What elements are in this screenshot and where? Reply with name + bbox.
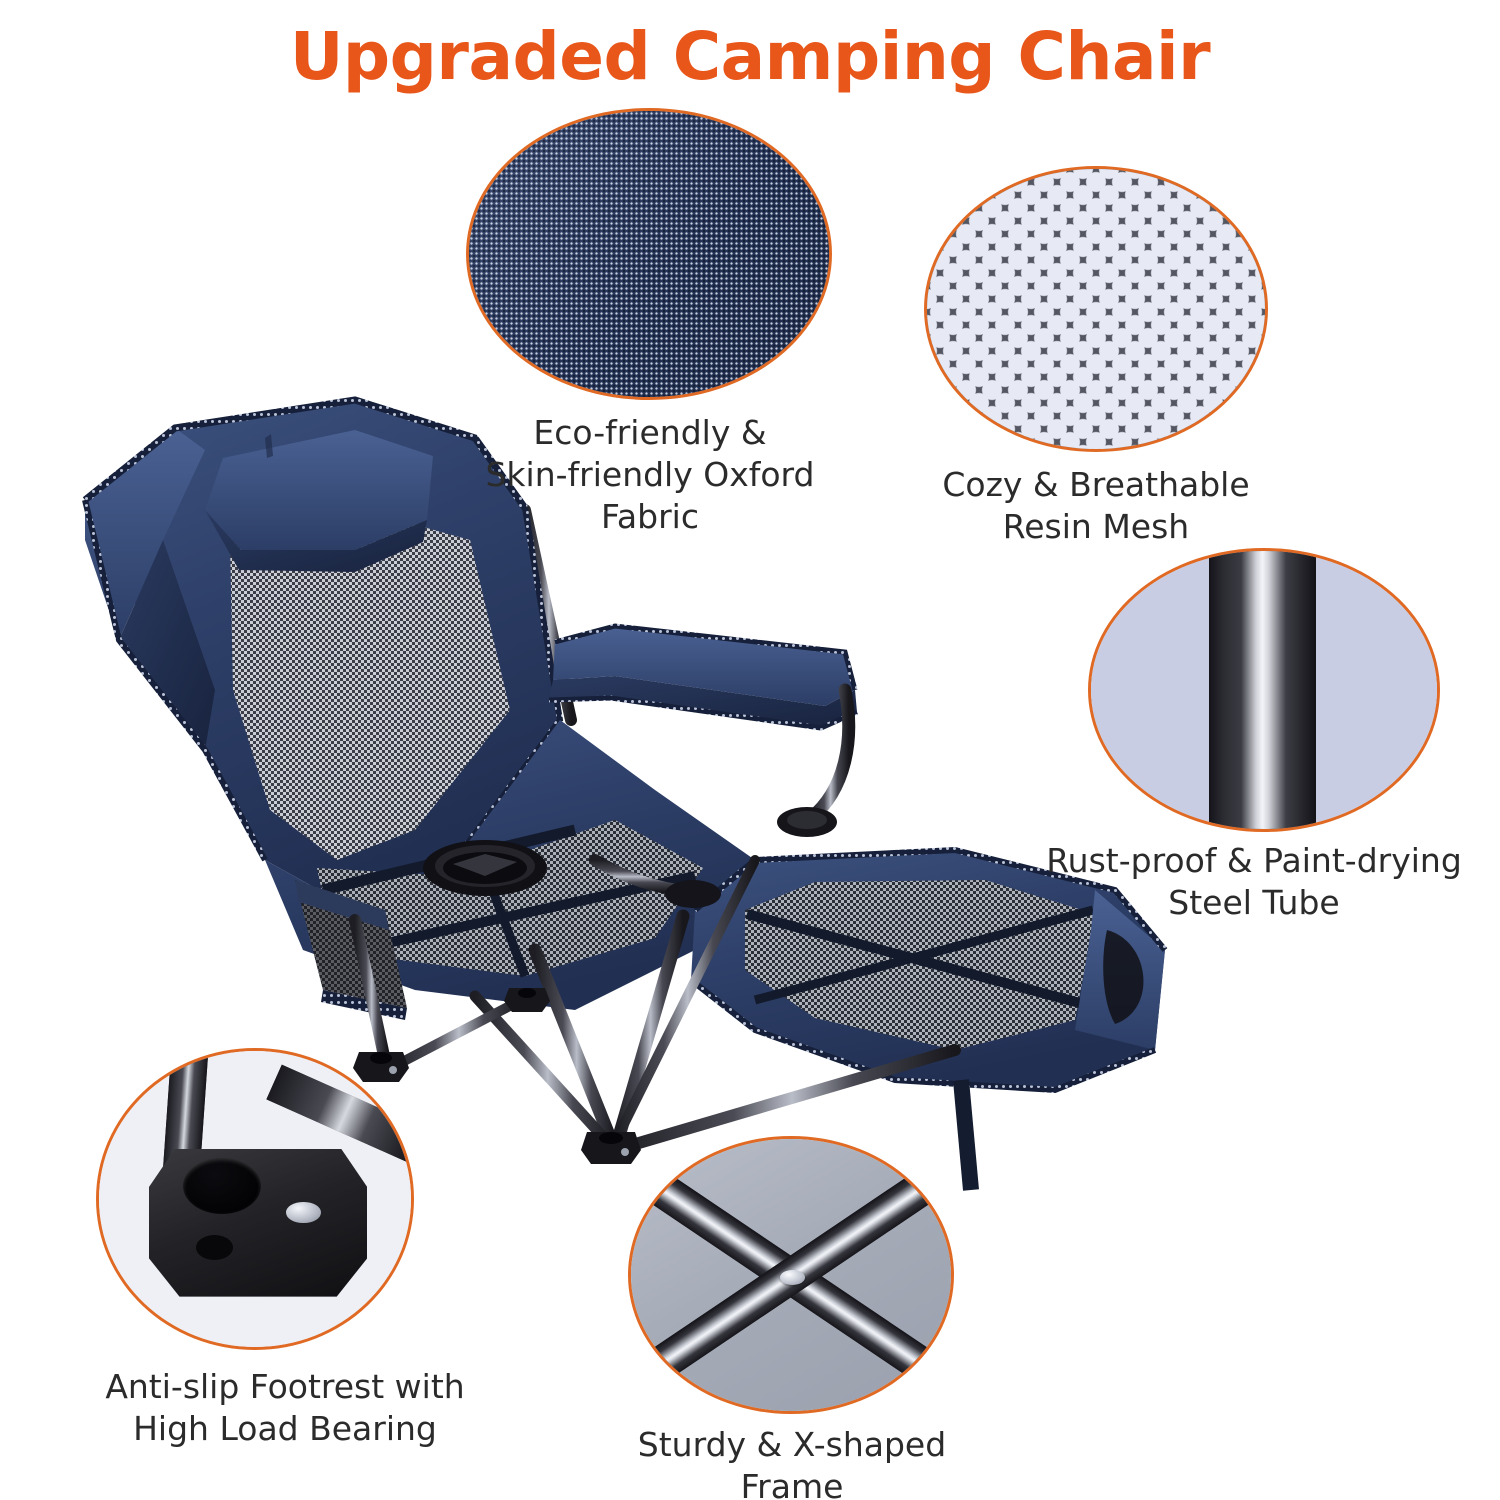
callout-x-shaped-frame <box>628 1136 954 1414</box>
foot-cap-tube-diagonal <box>266 1064 414 1163</box>
foot-cap-rivet <box>286 1202 320 1223</box>
steel-tube-icon <box>1091 551 1437 829</box>
infographic-canvas: Upgraded Camping Chair <box>0 0 1500 1500</box>
foot-cap-hole <box>196 1235 233 1260</box>
callout-oxford-fabric <box>466 108 832 400</box>
callout-resin-mesh-caption: Cozy & Breathable Resin Mesh <box>876 464 1316 548</box>
callout-anti-slip-footrest-caption: Anti-slip Footrest with High Load Bearin… <box>48 1366 522 1450</box>
foot-cap-joint-icon <box>99 1051 411 1347</box>
x-frame-center-rivet <box>780 1270 806 1285</box>
steel-tube-shape <box>1209 548 1316 832</box>
cup-holder <box>423 840 547 896</box>
fabric-swatch-icon <box>469 111 829 397</box>
callout-oxford-fabric-caption: Eco-friendly & Skin-friendly Oxford Fabr… <box>420 412 880 538</box>
mesh-swatch-icon <box>927 169 1265 449</box>
page-title: Upgraded Camping Chair <box>0 18 1500 95</box>
callout-x-shaped-frame-caption: Sturdy & X-shaped Frame <box>580 1424 1004 1500</box>
callout-steel-tube <box>1088 548 1440 832</box>
foot-cap-octagon-base <box>149 1149 367 1297</box>
callout-steel-tube-caption: Rust-proof & Paint-drying Steel Tube <box>1008 840 1500 924</box>
x-frame-icon <box>631 1139 951 1411</box>
callout-resin-mesh <box>924 166 1268 452</box>
foot-cap-socket <box>183 1158 261 1214</box>
callout-anti-slip-footrest <box>96 1048 414 1350</box>
